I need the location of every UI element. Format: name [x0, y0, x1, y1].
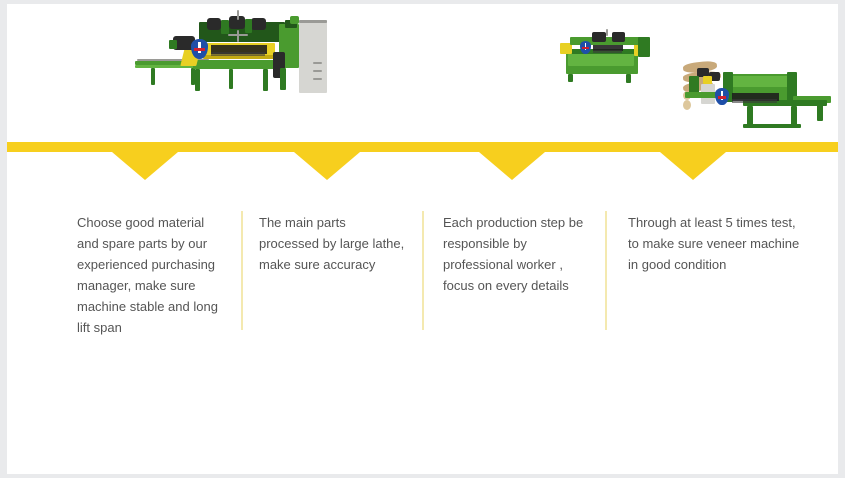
brand-watermark-logo [580, 41, 624, 54]
feature-text: Each production step be responsible by p… [443, 212, 591, 296]
feature-columns: Choose good material and spare parts by … [7, 200, 838, 350]
brand-subtext [211, 52, 265, 56]
accent-bar [7, 142, 838, 152]
brand-watermark-logo [715, 88, 781, 105]
feature-text: Choose good material and spare parts by … [77, 212, 229, 338]
brand-watermark-logo [191, 39, 269, 59]
column-divider [605, 211, 607, 330]
chevron-arrow-1 [112, 152, 178, 180]
chevron-arrow-4 [660, 152, 726, 180]
product-image-gallery [7, 4, 838, 142]
shield-icon [580, 41, 591, 54]
chevron-divider-band [7, 142, 838, 188]
feature-text: Through at least 5 times test, to make s… [628, 212, 800, 275]
log-debarker-machine-image[interactable] [683, 62, 831, 132]
chevron-arrow-2 [294, 152, 360, 180]
veneer-peeling-machine-image[interactable] [133, 10, 333, 95]
column-divider [422, 211, 424, 330]
brand-subtext [593, 50, 622, 53]
veneer-clipper-machine-image[interactable] [560, 29, 656, 86]
shield-icon [191, 39, 208, 59]
chevron-arrow-3 [479, 152, 545, 180]
content-card: Choose good material and spare parts by … [7, 4, 838, 474]
column-divider [241, 211, 243, 330]
brand-subtext [732, 99, 777, 103]
page-root: Choose good material and spare parts by … [0, 0, 845, 478]
feature-text: The main parts processed by large lathe,… [259, 212, 407, 275]
shield-icon [715, 88, 729, 105]
